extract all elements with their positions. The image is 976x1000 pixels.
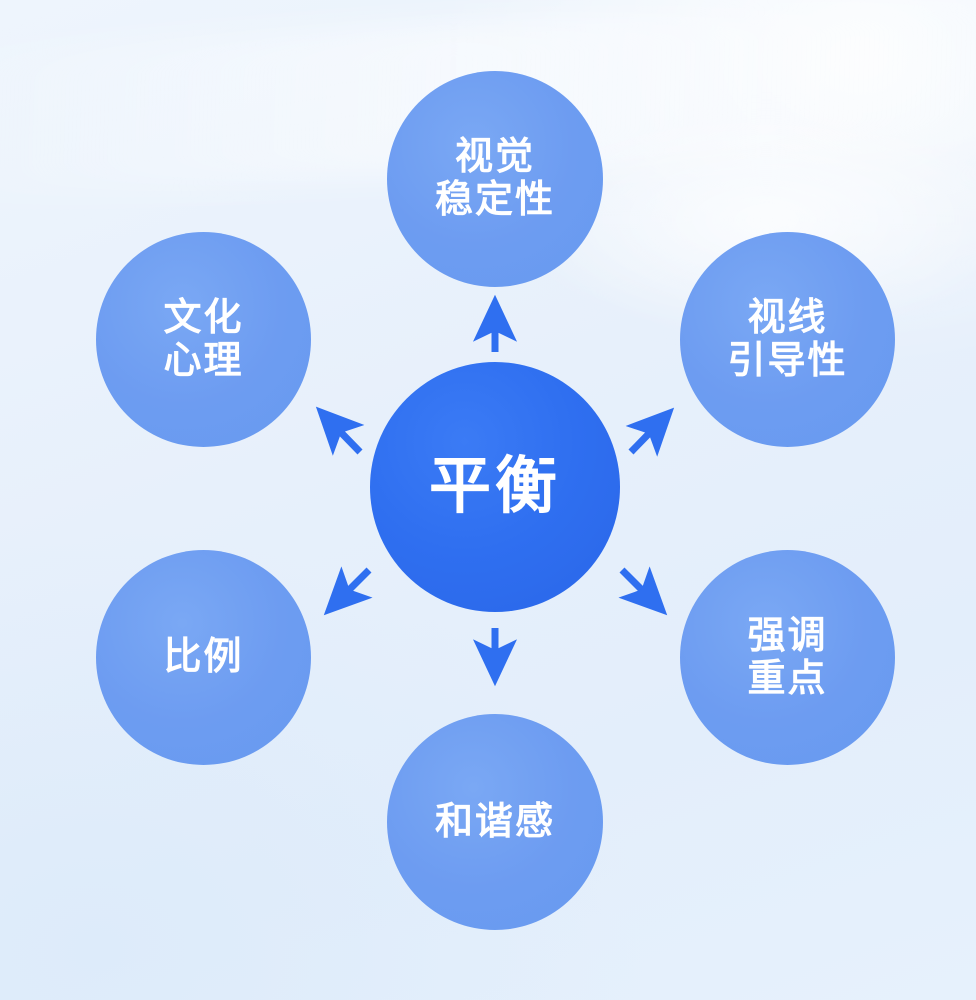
node-label-line-2: 心理 bbox=[163, 340, 243, 383]
node-center-label: 平衡 bbox=[429, 452, 561, 521]
node-sightline-guidance[interactable]: 视线 引导性 bbox=[680, 232, 895, 447]
arrow-down-left bbox=[331, 570, 369, 608]
node-label-line-1: 视线 bbox=[747, 297, 827, 340]
node-label-line-1: 文化 bbox=[163, 297, 243, 340]
node-label-line-1: 和谐感 bbox=[435, 801, 555, 844]
arrow-up-right bbox=[631, 415, 667, 452]
node-emphasis-focus[interactable]: 强调 重点 bbox=[680, 550, 895, 765]
node-label-line-2: 重点 bbox=[747, 658, 827, 701]
node-label-line-1: 视觉 bbox=[455, 136, 535, 179]
node-label-line-2: 稳定性 bbox=[435, 179, 555, 222]
node-culture-psychology[interactable]: 文化 心理 bbox=[96, 232, 311, 447]
node-proportion[interactable]: 比例 bbox=[96, 550, 311, 765]
arrow-up-left bbox=[323, 414, 360, 452]
arrow-down-right bbox=[622, 570, 660, 608]
node-harmony[interactable]: 和谐感 bbox=[387, 714, 603, 930]
node-label-line-2: 引导性 bbox=[727, 340, 847, 383]
node-label-line-1: 比例 bbox=[163, 636, 243, 679]
node-label-line-1: 强调 bbox=[747, 615, 827, 658]
diagram-canvas: 平衡 视觉 稳定性 视线 引导性 强调 重点 和谐感 比例 文化 心理 bbox=[0, 0, 976, 1000]
node-center-balance[interactable]: 平衡 bbox=[370, 362, 620, 612]
node-visual-stability[interactable]: 视觉 稳定性 bbox=[387, 71, 603, 287]
